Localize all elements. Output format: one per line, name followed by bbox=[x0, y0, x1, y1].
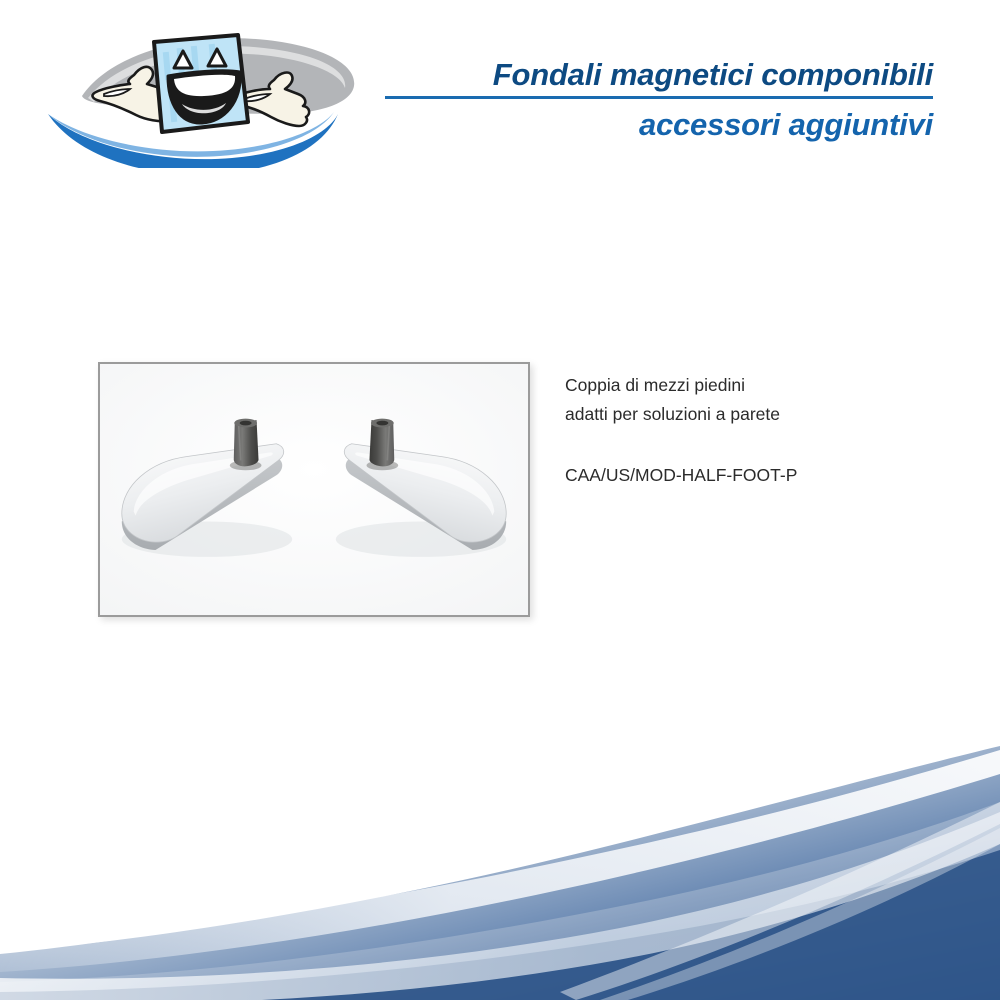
smiling-cube-mascot-logo bbox=[42, 18, 362, 168]
page-title-line1: Fondali magnetici componibili bbox=[385, 55, 933, 95]
slide-page: Fondali magnetici componibili accessori … bbox=[0, 0, 1000, 1000]
title-divider bbox=[385, 96, 933, 99]
company-logo[interactable] bbox=[42, 18, 362, 168]
half-foot-base-plates-photo bbox=[100, 364, 528, 615]
product-description-line-1: Coppia di mezzi piedini bbox=[565, 371, 965, 400]
product-image-frame[interactable] bbox=[98, 362, 530, 617]
product-info: Coppia di mezzi piedini adatti per soluz… bbox=[565, 371, 965, 488]
product-code: CAA/US/MOD-HALF-FOOT-P bbox=[565, 462, 965, 488]
title-block: Fondali magnetici componibili accessori … bbox=[385, 55, 933, 144]
page-title-line2: accessori aggiuntivi bbox=[385, 106, 933, 144]
page-header: Fondali magnetici componibili accessori … bbox=[0, 0, 1000, 175]
blue-wave-decoration bbox=[0, 740, 1000, 1000]
product-description-line-2: adatti per soluzioni a parete bbox=[565, 400, 965, 429]
logo-cube-face bbox=[154, 35, 248, 132]
footer-wave-decoration bbox=[0, 740, 1000, 1000]
